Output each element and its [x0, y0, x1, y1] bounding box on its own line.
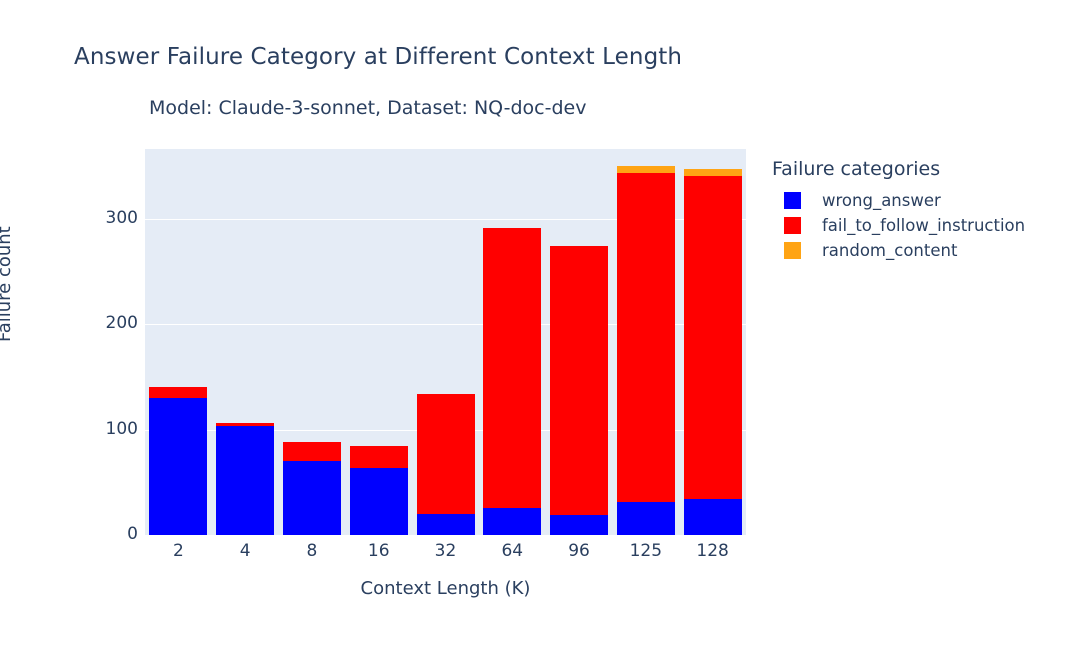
- legend: Failure categories wrong_answerfail_to_f…: [772, 158, 1072, 263]
- legend-item-label: random_content: [822, 241, 957, 260]
- bar-segment[interactable]: [483, 228, 541, 507]
- x-axis-tick-label: 32: [417, 541, 475, 561]
- bar-segment[interactable]: [149, 387, 207, 398]
- bar-segment[interactable]: [216, 426, 274, 535]
- x-axis-tick-label: 64: [483, 541, 541, 561]
- legend-item[interactable]: wrong_answer: [784, 188, 1072, 213]
- x-axis-tick-label: 2: [149, 541, 207, 561]
- bar-stack[interactable]: [483, 228, 541, 535]
- bar-stack[interactable]: [550, 246, 608, 535]
- x-axis-tick-label: 96: [550, 541, 608, 561]
- legend-item[interactable]: fail_to_follow_instruction: [784, 213, 1072, 238]
- y-axis-tick-mark: [139, 430, 145, 431]
- y-axis-tick-mark: [139, 324, 145, 325]
- chart-subtitle: Model: Claude-3-sonnet, Dataset: NQ-doc-…: [149, 97, 586, 119]
- legend-items: wrong_answerfail_to_follow_instructionra…: [772, 188, 1072, 263]
- legend-item-label: fail_to_follow_instruction: [822, 216, 1025, 235]
- y-axis-tick-mark: [139, 535, 145, 536]
- bar-segment[interactable]: [684, 499, 742, 535]
- chart-title: Answer Failure Category at Different Con…: [74, 44, 682, 70]
- bar-segment[interactable]: [283, 461, 341, 535]
- bar-stack[interactable]: [417, 394, 475, 535]
- bar-segment[interactable]: [417, 514, 475, 535]
- x-axis-label: Context Length (K): [145, 578, 746, 599]
- y-axis-tick-label: 100: [0, 419, 150, 439]
- legend-title: Failure categories: [772, 158, 1072, 180]
- x-axis-tick-label: 128: [684, 541, 742, 561]
- bar-stack[interactable]: [684, 169, 742, 535]
- y-axis-tick-mark: [139, 219, 145, 220]
- bar-segment[interactable]: [617, 166, 675, 173]
- bar-segment[interactable]: [550, 246, 608, 515]
- bar-segment[interactable]: [684, 169, 742, 176]
- y-axis-tick-label: 200: [0, 313, 150, 333]
- bar-segment[interactable]: [417, 394, 475, 514]
- bar-stack[interactable]: [617, 166, 675, 535]
- bar-segment[interactable]: [617, 502, 675, 535]
- bar-segment[interactable]: [149, 398, 207, 535]
- legend-swatch-icon: [784, 242, 801, 259]
- x-axis-tick-label: 16: [350, 541, 408, 561]
- chart-figure: Answer Failure Category at Different Con…: [0, 0, 1084, 648]
- legend-swatch-icon: [784, 192, 801, 209]
- plot-area: [145, 149, 746, 535]
- bar-segment[interactable]: [350, 446, 408, 467]
- bar-segment[interactable]: [617, 173, 675, 502]
- bar-stack[interactable]: [283, 442, 341, 535]
- bar-segment[interactable]: [350, 468, 408, 535]
- legend-swatch-icon: [784, 217, 801, 234]
- legend-item[interactable]: random_content: [784, 238, 1072, 263]
- bar-segment[interactable]: [684, 176, 742, 499]
- x-axis-tick-label: 4: [216, 541, 274, 561]
- y-axis-tick-label: 0: [0, 524, 150, 544]
- bar-segment[interactable]: [483, 508, 541, 535]
- bar-segment[interactable]: [283, 442, 341, 461]
- x-axis-tick-label: 125: [617, 541, 675, 561]
- legend-item-label: wrong_answer: [822, 191, 941, 210]
- bar-stack[interactable]: [216, 423, 274, 535]
- x-axis-tick-label: 8: [283, 541, 341, 561]
- bar-stack[interactable]: [350, 446, 408, 535]
- bar-series-container: [145, 149, 746, 535]
- bar-segment[interactable]: [550, 515, 608, 535]
- y-axis-tick-label: 300: [0, 208, 150, 228]
- bar-stack[interactable]: [149, 387, 207, 535]
